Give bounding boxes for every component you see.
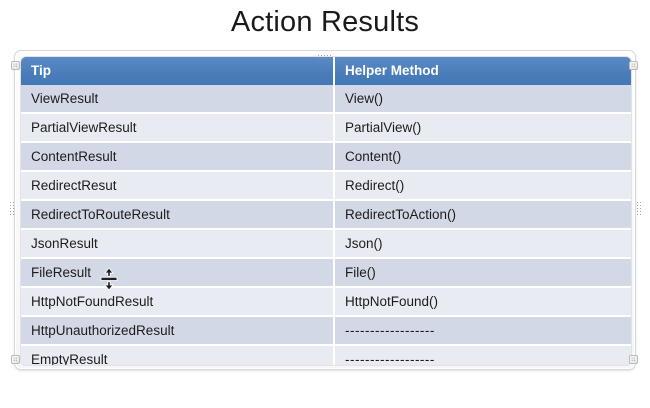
table-header: Tip Helper Method (21, 57, 631, 85)
table-row[interactable]: RedirectToRouteResult RedirectToAction() (21, 200, 631, 229)
table-object-frame[interactable]: Tip Helper Method ViewResult View() Part… (14, 50, 636, 370)
cell-helper[interactable]: ------------------ (334, 316, 631, 345)
cell-helper[interactable]: ------------------ (334, 345, 631, 365)
table-header-row: Tip Helper Method (21, 57, 631, 85)
column-header-tip[interactable]: Tip (21, 57, 334, 85)
cell-helper[interactable]: File() (334, 258, 631, 287)
column-header-helper-method[interactable]: Helper Method (334, 57, 631, 85)
cell-tip[interactable]: RedirectToRouteResult (21, 200, 334, 229)
cell-helper[interactable]: View() (334, 85, 631, 113)
resize-handle-bottom-left[interactable] (11, 355, 20, 364)
cell-tip[interactable]: ViewResult (21, 85, 334, 113)
table-row[interactable]: ViewResult View() (21, 85, 631, 113)
cell-helper[interactable]: HttpNotFound() (334, 287, 631, 316)
table-row[interactable]: EmptyResult ------------------ (21, 345, 631, 365)
cell-tip[interactable]: EmptyResult (21, 345, 334, 365)
resize-handle-bottom-right[interactable] (629, 355, 638, 364)
table-row[interactable]: RedirectResut Redirect() (21, 171, 631, 200)
resize-handle-top-left[interactable] (11, 61, 20, 70)
cell-helper[interactable]: Json() (334, 229, 631, 258)
resize-handle-middle-left[interactable] (9, 201, 14, 217)
table-row[interactable]: ContentResult Content() (21, 142, 631, 171)
cell-tip[interactable]: RedirectResut (21, 171, 334, 200)
cell-helper[interactable]: Content() (334, 142, 631, 171)
cell-tip[interactable]: FileResult (21, 258, 334, 287)
cell-helper[interactable]: Redirect() (334, 171, 631, 200)
table-row[interactable]: HttpNotFoundResult HttpNotFound() (21, 287, 631, 316)
cell-tip[interactable]: HttpUnauthorizedResult (21, 316, 334, 345)
table-row[interactable]: FileResult File() (21, 258, 631, 287)
table-row[interactable]: JsonResult Json() (21, 229, 631, 258)
cell-tip[interactable]: HttpNotFoundResult (21, 287, 334, 316)
action-results-table: Tip Helper Method ViewResult View() Part… (21, 57, 631, 365)
cell-tip[interactable]: JsonResult (21, 229, 334, 258)
resize-handle-top-center[interactable] (317, 54, 333, 59)
table-row[interactable]: HttpUnauthorizedResult -----------------… (21, 316, 631, 345)
resize-handle-top-right[interactable] (629, 61, 638, 70)
table-row[interactable]: PartialViewResult PartialView() (21, 113, 631, 142)
page-title: Action Results (0, 2, 650, 42)
resize-handle-middle-right[interactable] (636, 201, 641, 217)
table-body: ViewResult View() PartialViewResult Part… (21, 85, 631, 365)
cell-helper[interactable]: RedirectToAction() (334, 200, 631, 229)
table-container: Tip Helper Method ViewResult View() Part… (21, 57, 631, 365)
cell-helper[interactable]: PartialView() (334, 113, 631, 142)
cell-tip[interactable]: ContentResult (21, 142, 334, 171)
cell-tip[interactable]: PartialViewResult (21, 113, 334, 142)
